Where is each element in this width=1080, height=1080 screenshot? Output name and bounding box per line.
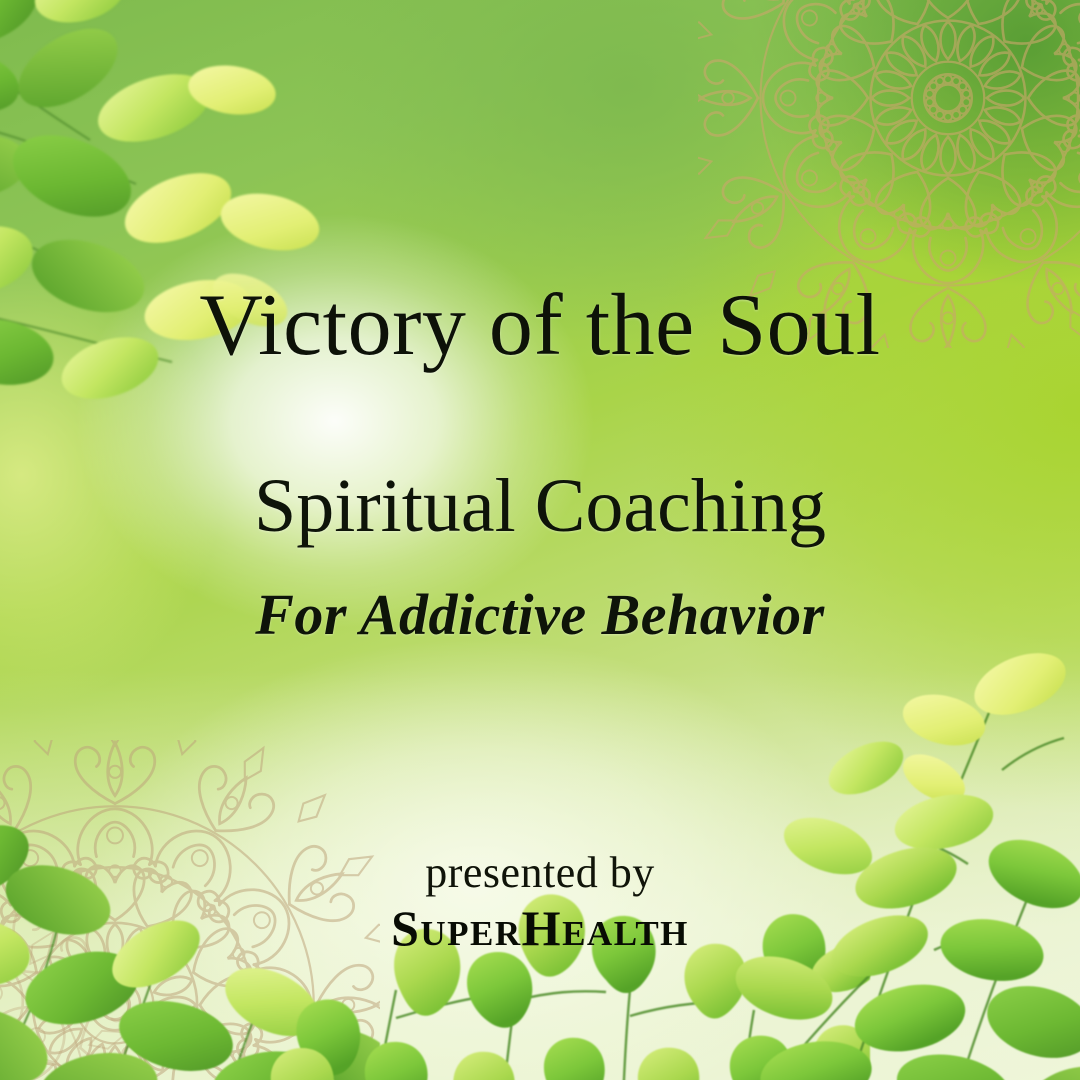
poster-canvas: Victory of the Soul Spiritual Coaching F… — [0, 0, 1080, 1080]
poster-subtitle: Spiritual Coaching — [0, 468, 1080, 544]
brand-name: SuperHealth — [0, 903, 1080, 953]
poster-text-layer: Victory of the Soul Spiritual Coaching F… — [0, 0, 1080, 1080]
page-title: Victory of the Soul — [0, 282, 1080, 370]
poster-tagline: For Addictive Behavior — [0, 586, 1080, 644]
presented-by-label: presented by — [0, 851, 1080, 895]
